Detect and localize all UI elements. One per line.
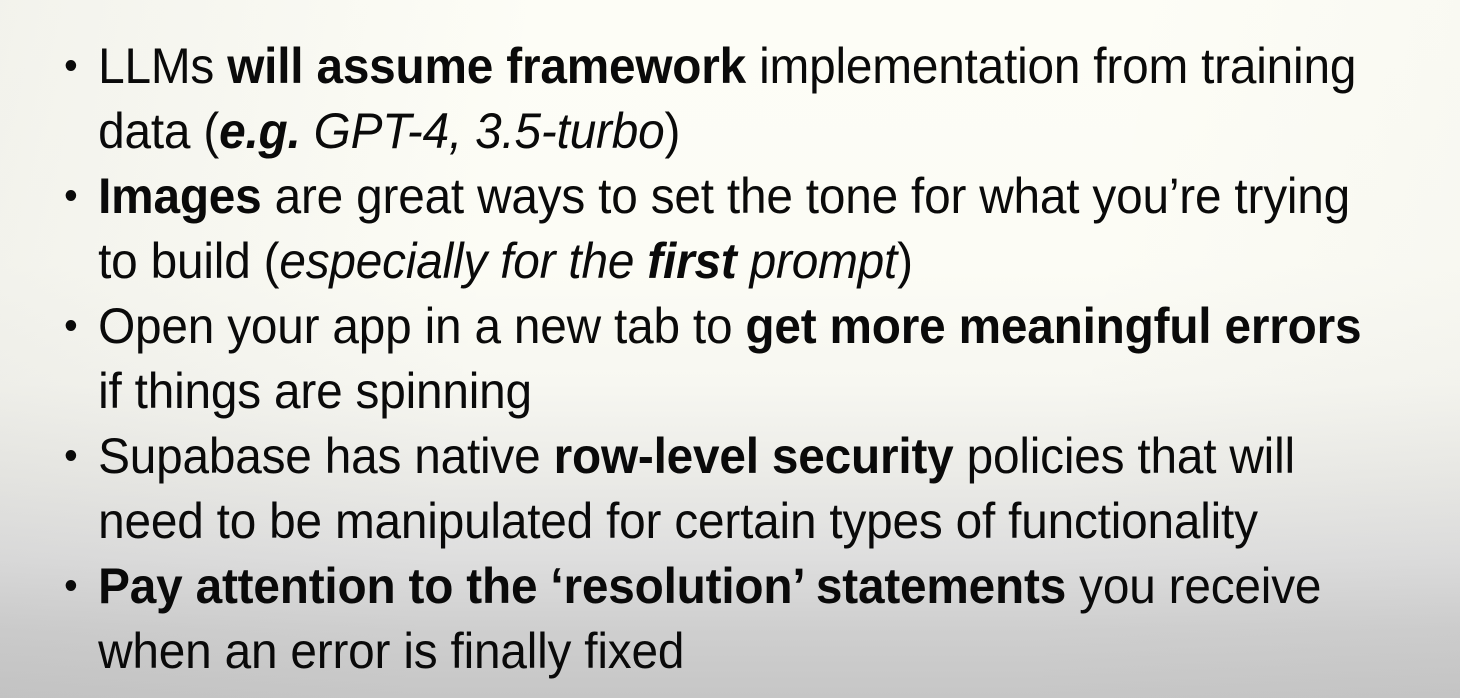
text-run: if things are spinning xyxy=(98,363,532,419)
bullet-text: LLMs will assume framework implementatio… xyxy=(98,38,1356,159)
text-run: Pay attention to the ‘resolution’ statem… xyxy=(98,558,1066,614)
text-run: Images xyxy=(98,168,261,224)
text-run: e.g. xyxy=(219,103,301,159)
bullet-item: Open your app in a new tab to get more m… xyxy=(58,294,1378,424)
bullet-item: Supabase has native row-level security p… xyxy=(58,424,1378,554)
text-run: get more meaningful errors xyxy=(745,298,1361,354)
bullet-item: Pay attention to the ‘resolution’ statem… xyxy=(58,554,1378,684)
text-run xyxy=(301,103,314,159)
bullet-text: Open your app in a new tab to get more m… xyxy=(98,298,1361,419)
text-run: GPT-4, 3.5-turbo xyxy=(314,103,665,159)
bullet-point-icon xyxy=(66,580,77,591)
bullet-point-icon xyxy=(66,190,77,201)
bullet-point-icon xyxy=(66,320,77,331)
bullet-item: LLMs will assume framework implementatio… xyxy=(58,34,1378,164)
text-run: first xyxy=(647,233,736,289)
bullet-list: LLMs will assume framework implementatio… xyxy=(0,0,1460,684)
bullet-text: Images are great ways to set the tone fo… xyxy=(98,168,1350,289)
bullet-text: Supabase has native row-level security p… xyxy=(98,428,1295,549)
bullet-point-icon xyxy=(66,450,77,461)
bullet-point-icon xyxy=(66,60,77,71)
text-run: prompt xyxy=(737,233,898,289)
text-run: LLMs xyxy=(98,38,227,94)
text-run: Open your app in a new tab to xyxy=(98,298,745,354)
slide-canvas: LLMs will assume framework implementatio… xyxy=(0,0,1460,698)
text-run: row-level security xyxy=(554,428,954,484)
text-run: will assume framework xyxy=(227,38,746,94)
bullet-item: Images are great ways to set the tone fo… xyxy=(58,164,1378,294)
text-run: ) xyxy=(664,103,680,159)
text-run: Supabase has native xyxy=(98,428,553,484)
bullet-text: Pay attention to the ‘resolution’ statem… xyxy=(98,558,1321,679)
text-run: especially for the xyxy=(279,233,647,289)
text-run: ) xyxy=(897,233,913,289)
